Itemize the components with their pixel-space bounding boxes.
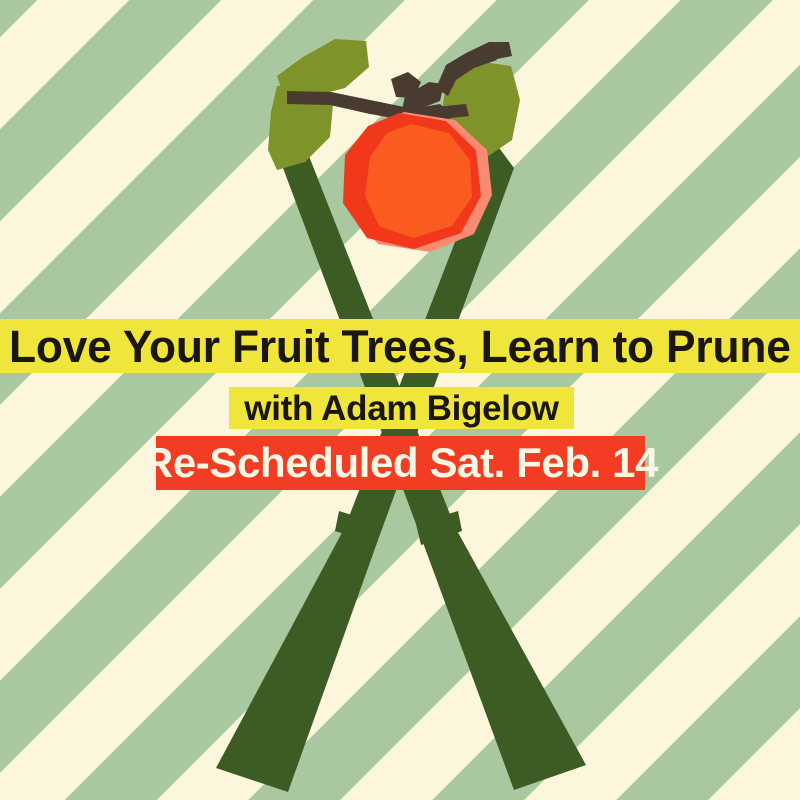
poster-subtitle: with Adam Bigelow bbox=[244, 391, 558, 426]
subtitle-banner: with Adam Bigelow bbox=[229, 387, 574, 429]
date-banner: Re-Scheduled Sat. Feb. 14 bbox=[156, 436, 645, 490]
shear-handle-left bbox=[422, 527, 586, 790]
poster-title: Love Your Fruit Trees, Learn to Prune bbox=[9, 324, 791, 369]
poster-date: Re-Scheduled Sat. Feb. 14 bbox=[143, 442, 658, 484]
poster-canvas: Love Your Fruit Trees, Learn to Prune wi… bbox=[0, 0, 800, 800]
shear-handle-right bbox=[216, 527, 378, 792]
title-banner: Love Your Fruit Trees, Learn to Prune bbox=[0, 319, 800, 373]
